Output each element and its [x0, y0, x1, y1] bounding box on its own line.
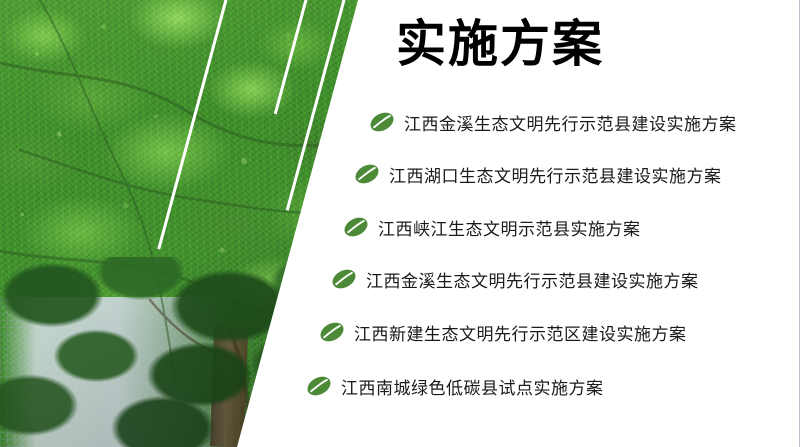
list-item[interactable]: 江西新建生态文明先行示范区建设实施方案	[318, 318, 687, 346]
leaf-icon	[353, 160, 381, 188]
list-item[interactable]: 江西湖口生态文明先行示范县建设实施方案	[353, 160, 722, 188]
list-item-label: 江西峡江生态文明示范县实施方案	[378, 215, 641, 240]
list-item[interactable]: 江西南城绿色低碳县试点实施方案	[305, 372, 604, 400]
presentation-slide: 实施方案 江西金溪生态文明先行示范县建设实施方案 江西湖口生态文明先行示范县建设…	[0, 0, 800, 447]
leaf-icon	[342, 213, 370, 241]
slide-content: 实施方案 江西金溪生态文明先行示范县建设实施方案 江西湖口生态文明先行示范县建设…	[0, 0, 800, 447]
list-item-label: 江西南城绿色低碳县试点实施方案	[341, 374, 604, 399]
leaf-icon	[330, 265, 358, 293]
list-item-label: 江西湖口生态文明先行示范县建设实施方案	[389, 162, 722, 187]
list-item-label: 江西金溪生态文明先行示范县建设实施方案	[404, 110, 737, 135]
list-item[interactable]: 江西金溪生态文明先行示范县建设实施方案	[368, 108, 737, 136]
list-item[interactable]: 江西金溪生态文明先行示范县建设实施方案	[330, 265, 699, 293]
list-item-label: 江西新建生态文明先行示范区建设实施方案	[354, 320, 687, 345]
leaf-icon	[368, 108, 396, 136]
leaf-icon	[305, 372, 333, 400]
leaf-icon	[318, 318, 346, 346]
list-item[interactable]: 江西峡江生态文明示范县实施方案	[342, 213, 641, 241]
page-title: 实施方案	[396, 18, 604, 71]
list-item-label: 江西金溪生态文明先行示范县建设实施方案	[366, 267, 699, 292]
